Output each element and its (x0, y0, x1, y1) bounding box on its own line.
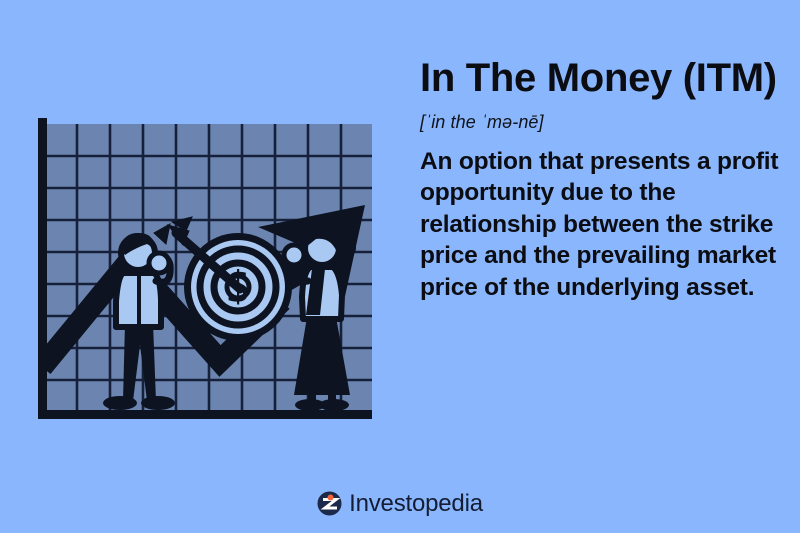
illustration-svg: $ (20, 105, 390, 430)
term-title: In The Money (ITM) (420, 56, 780, 102)
brand-footer: Investopedia (0, 491, 800, 516)
illustration-panel: $ (20, 105, 390, 430)
itm-definition-card: $ (0, 0, 800, 533)
term-pronunciation: [ˈin the ˈmə-nē] (420, 112, 780, 133)
definition-text-column: In The Money (ITM) [ˈin the ˈmə-nē] An o… (420, 56, 780, 304)
brand-name: Investopedia (349, 492, 483, 516)
term-definition: An option that presents a profit opportu… (420, 146, 780, 304)
investopedia-logo-icon (317, 491, 342, 516)
